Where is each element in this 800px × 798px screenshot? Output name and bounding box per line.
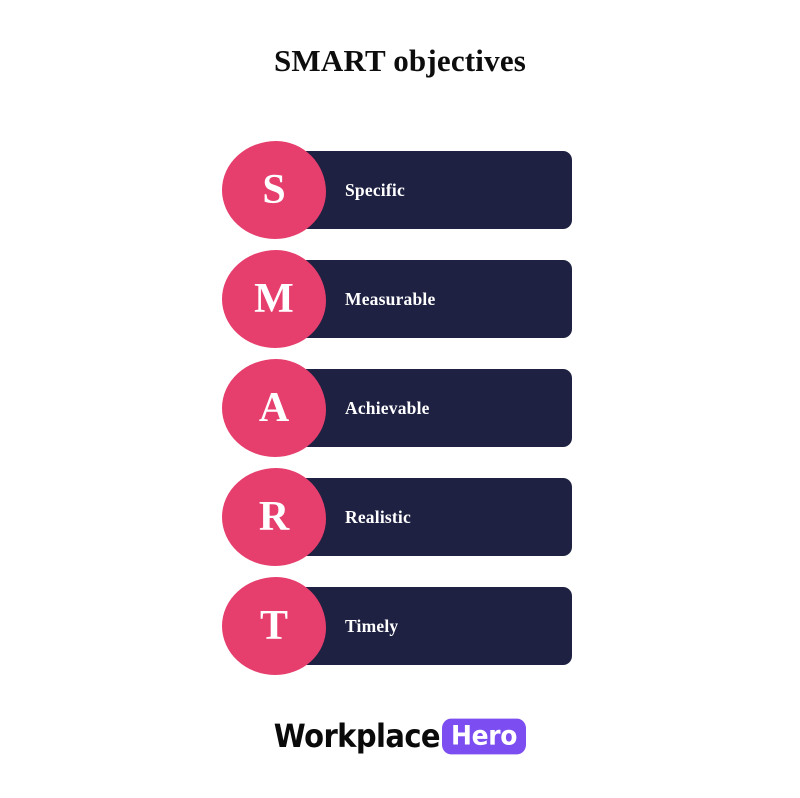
logo-wordmark-workplace: Workplace (274, 710, 440, 763)
row-blob-badge: R (222, 468, 326, 566)
page-title: SMART objectives (0, 40, 800, 82)
row-label: Realistic (345, 478, 411, 556)
smart-row-measurable[interactable]: Measurable M (0, 250, 800, 348)
smart-row-specific[interactable]: Specific S (0, 141, 800, 239)
row-letter: S (222, 141, 326, 239)
smart-rows-list: Specific S Measurable M Achievable A (0, 141, 800, 661)
smart-row-achievable[interactable]: Achievable A (0, 359, 800, 457)
row-letter: A (222, 359, 326, 457)
row-letter: R (222, 468, 326, 566)
row-blob-badge: A (222, 359, 326, 457)
footer-logo[interactable]: WorkplaceHero (0, 712, 800, 760)
row-blob-badge: S (222, 141, 326, 239)
row-label: Specific (345, 151, 405, 229)
logo-lockup: WorkplaceHero (274, 712, 526, 760)
row-letter: M (222, 250, 326, 348)
row-blob-badge: T (222, 577, 326, 675)
row-letter: T (222, 577, 326, 675)
logo-badge-hero: Hero (442, 719, 526, 755)
row-label: Timely (345, 587, 398, 665)
row-label: Achievable (345, 369, 430, 447)
smart-row-realistic[interactable]: Realistic R (0, 468, 800, 566)
row-blob-badge: M (222, 250, 326, 348)
row-label: Measurable (345, 260, 435, 338)
infographic-canvas: SMART objectives Specific S Measurable M… (0, 0, 800, 798)
smart-row-timely[interactable]: Timely T (0, 577, 800, 675)
